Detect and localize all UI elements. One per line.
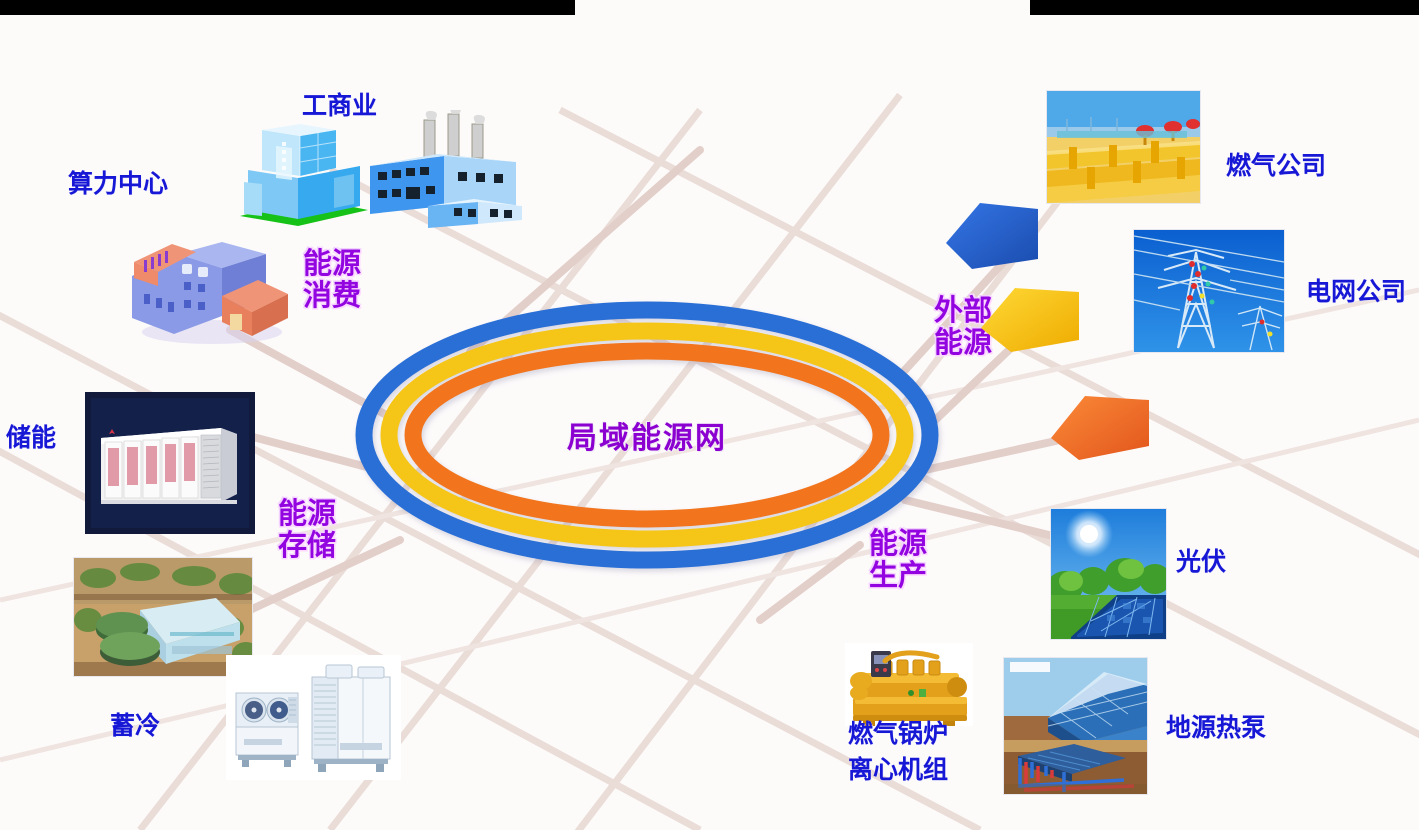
power-tower-photo bbox=[1133, 229, 1285, 353]
gas-generator-photo bbox=[845, 643, 973, 726]
link-external-heat bbox=[925, 440, 1060, 470]
geothermal-photo bbox=[1003, 657, 1148, 795]
node-label-gas-company: 燃气公司 bbox=[1226, 148, 1326, 184]
arrow-heat bbox=[1047, 388, 1155, 464]
chiller-units-photo bbox=[226, 655, 401, 780]
section-label-storage: 能源 存储 bbox=[247, 498, 367, 563]
section-label-production: 能源 生产 bbox=[838, 528, 958, 593]
battery-container-photo bbox=[85, 392, 255, 534]
node-label-grid-company: 电网公司 bbox=[1306, 274, 1406, 310]
diagram-canvas: 局域能源网 能源 消费 外部 能源 能源 存储 能源 生产 bbox=[0, 0, 1419, 830]
arrow-gas bbox=[938, 197, 1043, 277]
node-label-ground-heatpump: 地源热泵 bbox=[1166, 710, 1266, 746]
factory-icon bbox=[366, 110, 526, 230]
node-label-compute-center: 算力中心 bbox=[68, 166, 168, 202]
arrow-power bbox=[975, 282, 1083, 358]
solar-panel-photo bbox=[1050, 508, 1167, 640]
datacenter-icon bbox=[126, 224, 288, 346]
office-tower-icon bbox=[228, 118, 374, 228]
node-label-commercial: 工商业 bbox=[302, 88, 377, 124]
node-label-gas-boiler: 燃气锅炉 离心机组 bbox=[848, 716, 948, 789]
letterbox-bar-right bbox=[1030, 0, 1419, 15]
node-label-cold-storage: 蓄冷 bbox=[110, 708, 160, 744]
section-label-consumption: 能源 消费 bbox=[272, 248, 392, 313]
node-label-photovoltaic: 光伏 bbox=[1176, 544, 1226, 580]
letterbox-bar-left bbox=[0, 0, 575, 15]
gas-pipeline-photo bbox=[1046, 90, 1201, 204]
node-label-battery-storage: 储能 bbox=[6, 420, 56, 456]
